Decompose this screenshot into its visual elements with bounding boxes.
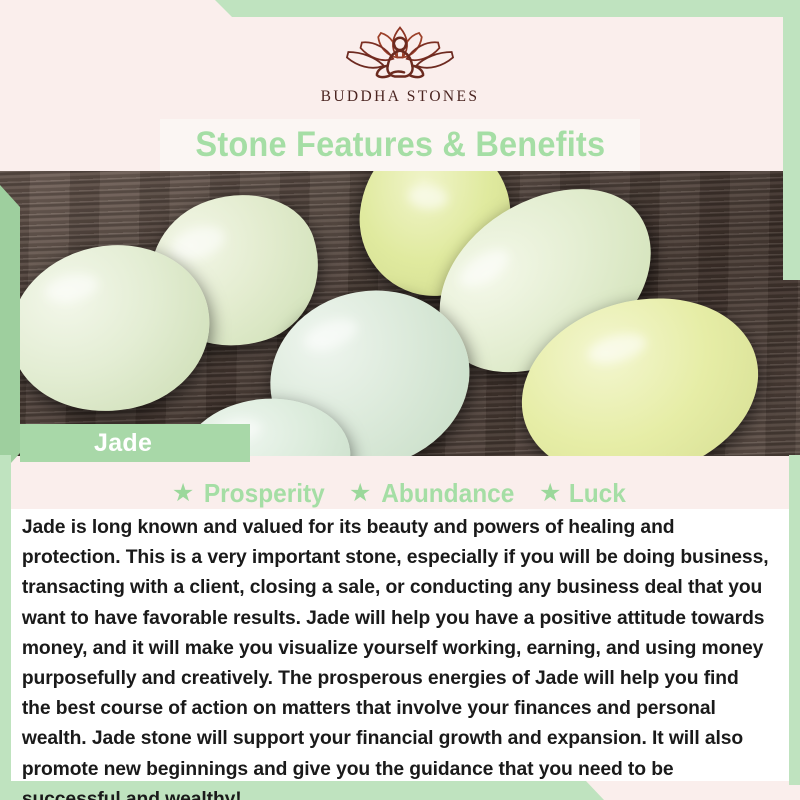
page-title: Stone Features & Benefits [195,125,605,165]
benefit-label: Prosperity [204,478,325,509]
brand-header: BUDDHA STONES [0,18,800,118]
benefit-label: Luck [569,478,626,509]
stone-photo [0,171,800,456]
green-accent-right-lower [783,168,800,280]
star-icon: ★ [539,481,561,506]
green-accent-top [0,0,800,17]
brand-name: BUDDHA STONES [321,88,480,106]
lotus-meditation-icon [330,18,470,86]
benefit-label: Abundance [382,478,515,509]
title-banner: Stone Features & Benefits [160,119,640,171]
green-accent-left-band [0,185,20,475]
stone-info-poster: BUDDHA STONES Jade Stone Features & B [0,0,800,800]
stone-name-text: Jade [94,429,152,458]
description-panel: Jade is long known and valued for its be… [11,509,789,781]
star-icon: ★ [349,481,371,506]
stone-name-label: Jade [20,424,250,462]
description-text: Jade is long known and valued for its be… [11,509,777,800]
benefits-row: ★ Prosperity ★ Abundance ★ Luck [0,478,800,509]
benefit-item: ★ Luck [539,478,628,509]
benefit-item: ★ Abundance [349,478,519,509]
star-icon: ★ [172,481,194,506]
benefit-item: ★ Prosperity [172,478,329,509]
